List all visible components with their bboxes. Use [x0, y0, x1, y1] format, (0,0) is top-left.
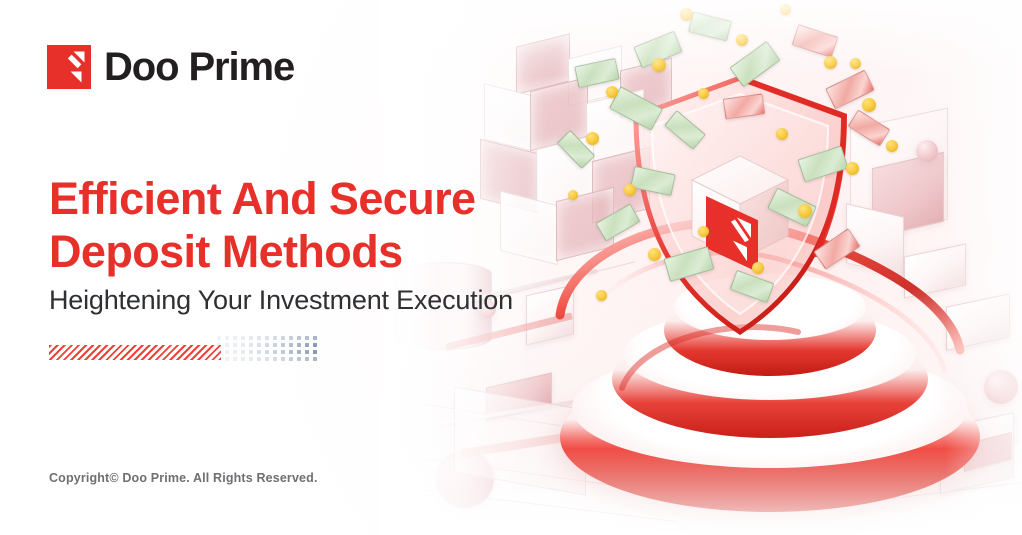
doo-prime-flag-mark-icon	[47, 45, 91, 89]
dot	[289, 336, 293, 340]
dot	[249, 343, 253, 347]
dot	[249, 350, 253, 354]
hatch-bar	[49, 345, 221, 360]
gold-coin	[586, 132, 599, 145]
gold-coin	[752, 262, 764, 274]
dot	[265, 357, 269, 361]
dot	[305, 336, 309, 340]
page-title: Efficient And Secure Deposit Methods	[49, 172, 475, 278]
dot	[265, 343, 269, 347]
dot	[217, 343, 221, 347]
copyright-text: Copyright© Doo Prime. All Rights Reserve…	[49, 471, 318, 485]
promo-banner: Doo Prime Efficient And Secure Deposit M…	[0, 0, 1022, 535]
dot	[257, 357, 261, 361]
page-subtitle: Heightening Your Investment Execution	[49, 284, 513, 316]
dot	[241, 343, 245, 347]
dot	[281, 336, 285, 340]
brand-logo[interactable]: Doo Prime	[47, 45, 294, 89]
dot	[225, 357, 229, 361]
gold-coin	[776, 128, 788, 140]
gold-coin	[648, 248, 661, 261]
dot	[265, 350, 269, 354]
dot	[217, 350, 221, 354]
dot	[241, 336, 245, 340]
dot	[225, 336, 229, 340]
gold-coin	[680, 8, 693, 21]
dot	[305, 343, 309, 347]
dot	[273, 343, 277, 347]
dot	[257, 350, 261, 354]
gold-coin	[652, 58, 666, 72]
dot	[289, 357, 293, 361]
dot	[217, 336, 221, 340]
gold-coin	[698, 226, 709, 237]
prop-sphere	[916, 140, 938, 162]
dot	[241, 357, 245, 361]
dot	[297, 357, 301, 361]
dot	[297, 343, 301, 347]
dot	[273, 357, 277, 361]
gold-coin	[596, 290, 607, 301]
gold-coin	[736, 34, 748, 46]
gold-coin	[798, 204, 812, 218]
dot	[273, 336, 277, 340]
dot	[233, 350, 237, 354]
gold-coin	[846, 162, 859, 175]
dot	[233, 343, 237, 347]
hero-illustration	[380, 0, 1022, 535]
gold-coin	[624, 184, 636, 196]
dot	[289, 343, 293, 347]
banknote	[688, 11, 732, 41]
gold-coin	[780, 4, 791, 15]
decorative-rule	[49, 336, 319, 364]
gold-coin	[698, 88, 709, 99]
brand-name: Doo Prime	[104, 47, 294, 87]
dot	[249, 336, 253, 340]
gold-coin	[824, 56, 837, 69]
gold-coin	[606, 86, 618, 98]
dot	[305, 357, 309, 361]
gold-coin	[862, 98, 876, 112]
dot	[257, 343, 261, 347]
dot	[265, 336, 269, 340]
dot	[281, 357, 285, 361]
dot	[297, 350, 301, 354]
dot	[225, 350, 229, 354]
dot	[281, 343, 285, 347]
dot-matrix	[217, 336, 321, 364]
banknote	[792, 24, 839, 58]
dot	[313, 357, 317, 361]
gold-coin	[886, 140, 898, 152]
gold-coin	[568, 190, 578, 200]
dot	[233, 336, 237, 340]
dot	[313, 350, 317, 354]
dot	[297, 336, 301, 340]
dot	[257, 336, 261, 340]
dot	[281, 350, 285, 354]
dot	[305, 350, 309, 354]
dot	[233, 357, 237, 361]
dot	[313, 336, 317, 340]
gold-coin	[850, 58, 861, 69]
dot	[273, 350, 277, 354]
dot	[217, 357, 221, 361]
dot	[313, 343, 317, 347]
dot	[289, 350, 293, 354]
dot	[249, 357, 253, 361]
dot	[225, 343, 229, 347]
dot	[241, 350, 245, 354]
